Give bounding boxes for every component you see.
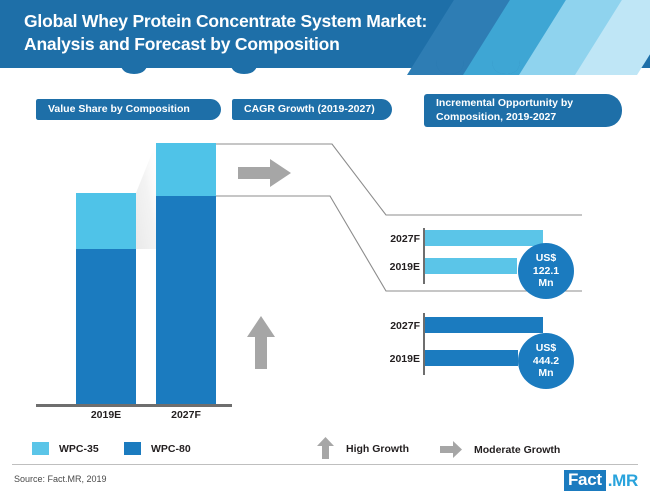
legend-label-wpc80: WPC-80 xyxy=(151,443,191,455)
legend-item-moderate-growth: Moderate Growth xyxy=(440,440,560,459)
legend-item-high-growth: High Growth xyxy=(316,437,409,460)
incremental-wpc80-currency: US$ xyxy=(536,342,556,354)
legend-swatch-wpc35 xyxy=(32,442,49,455)
incremental-wpc80-label-2027F: 2027F xyxy=(374,320,420,332)
infographic-canvas: Global Whey Protein Concentrate System M… xyxy=(0,0,650,498)
incremental-wpc80-label-2019E: 2019E xyxy=(374,353,420,365)
high-growth-legend-arrow-icon xyxy=(316,437,335,460)
incremental-wpc80-value: 444.2 xyxy=(533,355,559,367)
factmr-logo-mark: Fact xyxy=(564,470,606,491)
incremental-group-wpc80: 2027F 2019E US$ 444.2 Mn xyxy=(0,0,650,498)
legend-item-wpc35: WPC-35 xyxy=(32,442,99,455)
legend-swatch-wpc80 xyxy=(124,442,141,455)
factmr-logo: Fact .MR xyxy=(564,470,638,491)
legend-label-moderate-growth: Moderate Growth xyxy=(474,444,560,456)
factmr-logo-suffix: .MR xyxy=(608,471,638,491)
legend-item-wpc80: WPC-80 xyxy=(124,442,191,455)
incremental-wpc80-value-badge: US$ 444.2 Mn xyxy=(518,333,574,389)
incremental-wpc80-unit: Mn xyxy=(538,367,553,379)
footer-divider xyxy=(12,464,638,465)
moderate-growth-legend-arrow-icon xyxy=(440,440,463,459)
legend-label-wpc35: WPC-35 xyxy=(59,443,99,455)
legend-label-high-growth: High Growth xyxy=(346,443,409,455)
source-note: Source: Fact.MR, 2019 xyxy=(14,474,107,484)
incremental-wpc80-bar-2019E xyxy=(425,350,518,366)
incremental-wpc80-bar-2027F xyxy=(425,317,543,333)
